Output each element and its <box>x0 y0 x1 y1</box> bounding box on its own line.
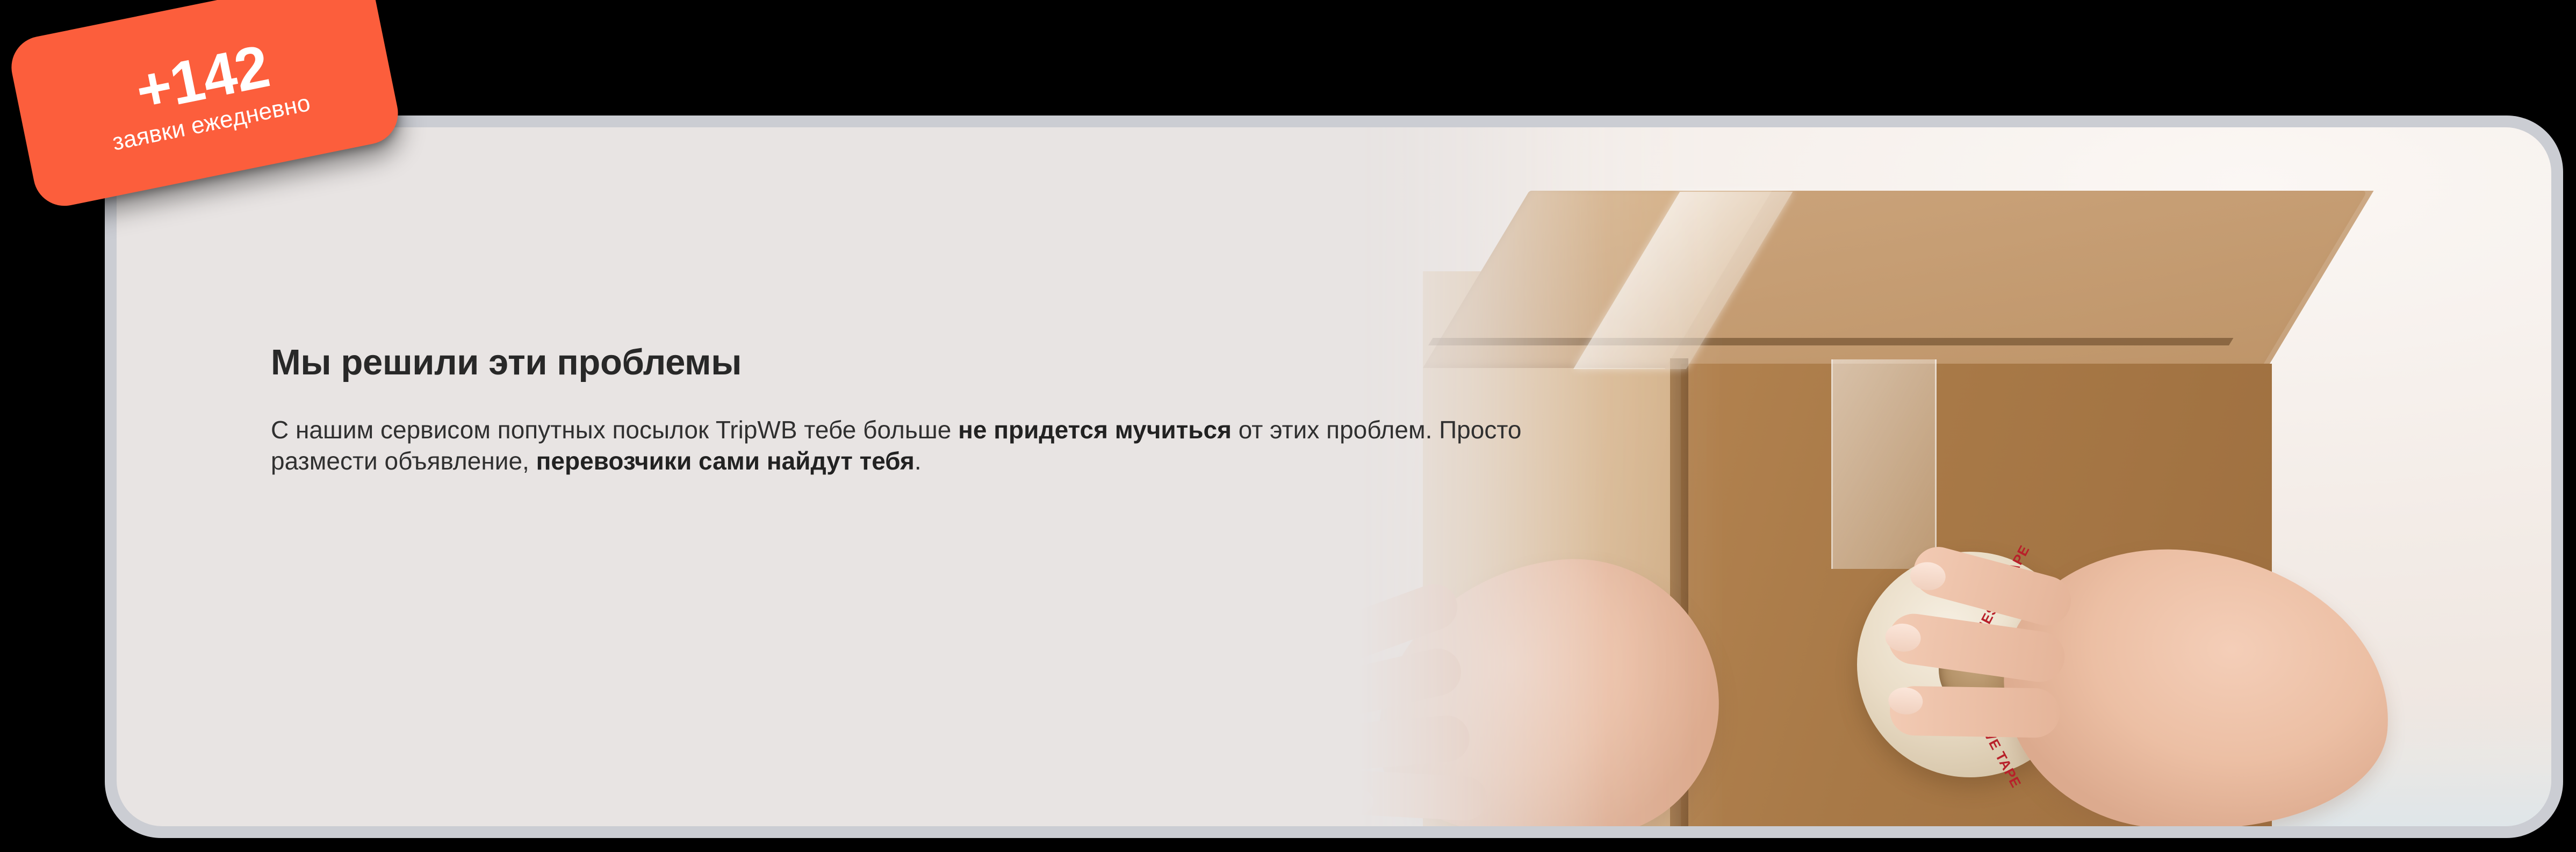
feature-card-inner: ADHESIVE TAPE ADHESIVE TAPE ADHESIVE TAP… <box>117 127 2551 826</box>
packing-tape-strip-front <box>1831 359 1937 569</box>
packing-box-photo: ADHESIVE TAPE ADHESIVE TAPE ADHESIVE TAP… <box>1197 127 2551 826</box>
feature-card: ADHESIVE TAPE ADHESIVE TAPE ADHESIVE TAP… <box>105 115 2563 838</box>
emphasis-text: перевозчики сами найдут тебя <box>536 447 915 475</box>
emphasis-text: не придется мучиться <box>958 416 1232 444</box>
page-title: Мы решили эти проблемы <box>271 344 1668 381</box>
card-text-block: Мы решили эти проблемы С нашим сервисом … <box>271 344 1668 476</box>
card-description: С нашим сервисом попутных посылок TripWB… <box>271 414 1571 476</box>
body-text: . <box>915 447 922 475</box>
body-text: С нашим сервисом попутных посылок TripWB… <box>271 416 958 444</box>
